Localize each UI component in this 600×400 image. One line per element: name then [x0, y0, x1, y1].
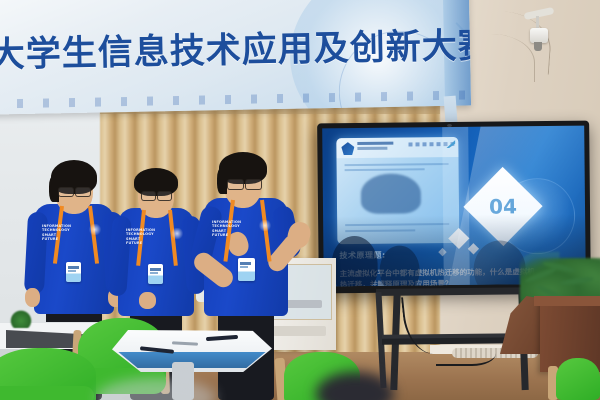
slide-reflection-silhouette	[361, 173, 421, 214]
small-plant	[10, 310, 32, 328]
chair-far-right-back	[556, 358, 600, 400]
student-left-shirt-print: INFORMATION TECHNOLOGY SMART FUTURE	[42, 224, 71, 242]
planter-rim	[534, 296, 600, 306]
logo-wordmark-sub	[357, 147, 387, 150]
student-right-hair-side	[217, 168, 227, 194]
logo-wordmark	[357, 142, 393, 145]
screen-reflection-person-1	[331, 236, 378, 287]
camera-lens-icon	[534, 42, 542, 51]
cabinet-drawer	[272, 326, 326, 336]
tv-cable-run	[436, 334, 496, 366]
student-right-glasses-left	[227, 179, 244, 190]
student-right-badge	[238, 258, 255, 281]
student-right-shirt-print: INFORMATION TECHNOLOGY SMART FUTURE	[212, 220, 241, 238]
student-left-hand-left	[25, 288, 40, 307]
slide-rule-2	[345, 168, 425, 171]
student-right-glasses-right	[245, 179, 262, 190]
event-banner: |大学生信息技术应用及创新大赛	[0, 0, 471, 115]
slide-rule-1	[345, 163, 449, 166]
student-middle-shirt-print: INFORMATION TECHNOLOGY SMART FUTURE	[126, 228, 155, 246]
student-middle-hands-clasped	[139, 292, 156, 309]
student-middle-shirt-logo	[170, 228, 184, 239]
student-left-glasses-right	[75, 187, 91, 197]
chair-front-left-seat	[0, 386, 94, 400]
student-right-shirt-logo	[258, 220, 272, 231]
photo-scene: |大学生信息技术应用及创新大赛 技术原理题: 主流虚拟化平台中都有虚拟机热迁移的…	[0, 0, 600, 400]
wall-camera-icon	[530, 28, 548, 43]
student-middle-glasses-right	[157, 191, 172, 201]
student-left-shirt-logo	[88, 224, 102, 235]
slide-card-header	[336, 137, 458, 158]
student-left-badge	[66, 262, 81, 282]
banner-title: |大学生信息技术应用及创新大赛	[0, 18, 446, 78]
student-middle-glasses-left	[141, 191, 156, 201]
student-left-glasses-left	[58, 187, 74, 197]
student-middle-badge	[148, 264, 163, 284]
